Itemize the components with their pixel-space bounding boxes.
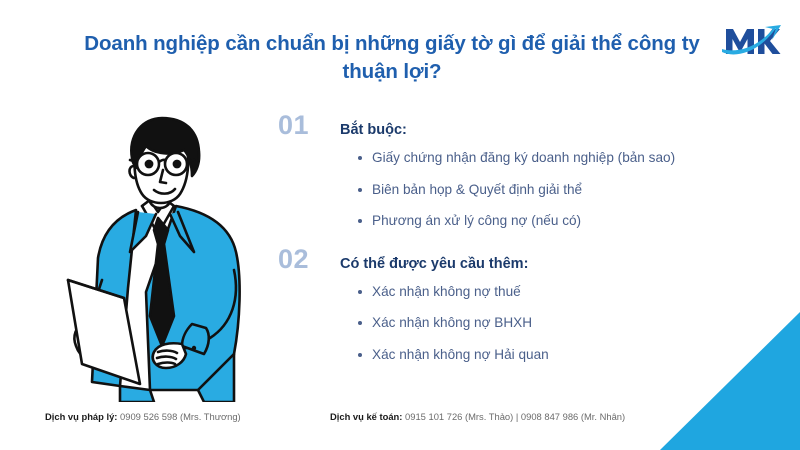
footer-accounting-label: Dịch vụ kế toán: [330,411,402,422]
footer-legal-label: Dịch vụ pháp lý: [45,411,117,422]
section-01-number: 01 [278,112,340,139]
section-01-title: Bắt buộc: [340,123,407,138]
list-item: Biên bản họp & Quyết định giải thể [358,183,778,197]
section-02: 02 Có thể được yêu cầu thêm: Xác nhận kh… [278,246,778,362]
section-01-bullets: Giấy chứng nhận đăng ký doanh nghiệp (bả… [278,151,778,228]
footer-accounting-service: Dịch vụ kế toán: 0915 101 726 (Mrs. Thảo… [330,411,625,422]
section-01-header: 01 Bắt buộc: [278,112,778,139]
section-01: 01 Bắt buộc: Giấy chứng nhận đăng ký doa… [278,112,778,228]
section-02-number: 02 [278,246,340,273]
footer-accounting-value: 0915 101 726 (Mrs. Thảo) | 0908 847 986 … [405,411,625,422]
list-item: Giấy chứng nhận đăng ký doanh nghiệp (bả… [358,151,778,165]
footer-contacts: Dịch vụ pháp lý: 0909 526 598 (Mrs. Thươ… [0,411,800,427]
list-item: Xác nhận không nợ Hải quan [358,348,778,362]
list-item: Xác nhận không nợ thuế [358,285,778,299]
slide-canvas: Doanh nghiệp cần chuẩn bị những giấy tờ … [0,0,800,450]
businessman-illustration [58,102,276,402]
footer-legal-service: Dịch vụ pháp lý: 0909 526 598 (Mrs. Thươ… [45,411,241,422]
section-02-header: 02 Có thể được yêu cầu thêm: [278,246,778,273]
footer-legal-value: 0909 526 598 (Mrs. Thương) [120,411,241,422]
mk-logo [720,18,782,64]
page-title: Doanh nghiệp cần chuẩn bị những giấy tờ … [72,30,712,87]
section-02-bullets: Xác nhận không nợ thuế Xác nhận không nợ… [278,285,778,362]
list-item: Xác nhận không nợ BHXH [358,316,778,330]
content-list: 01 Bắt buộc: Giấy chứng nhận đăng ký doa… [278,112,778,362]
section-02-title: Có thể được yêu cầu thêm: [340,257,528,272]
list-item: Phương án xử lý công nợ (nếu có) [358,214,778,228]
